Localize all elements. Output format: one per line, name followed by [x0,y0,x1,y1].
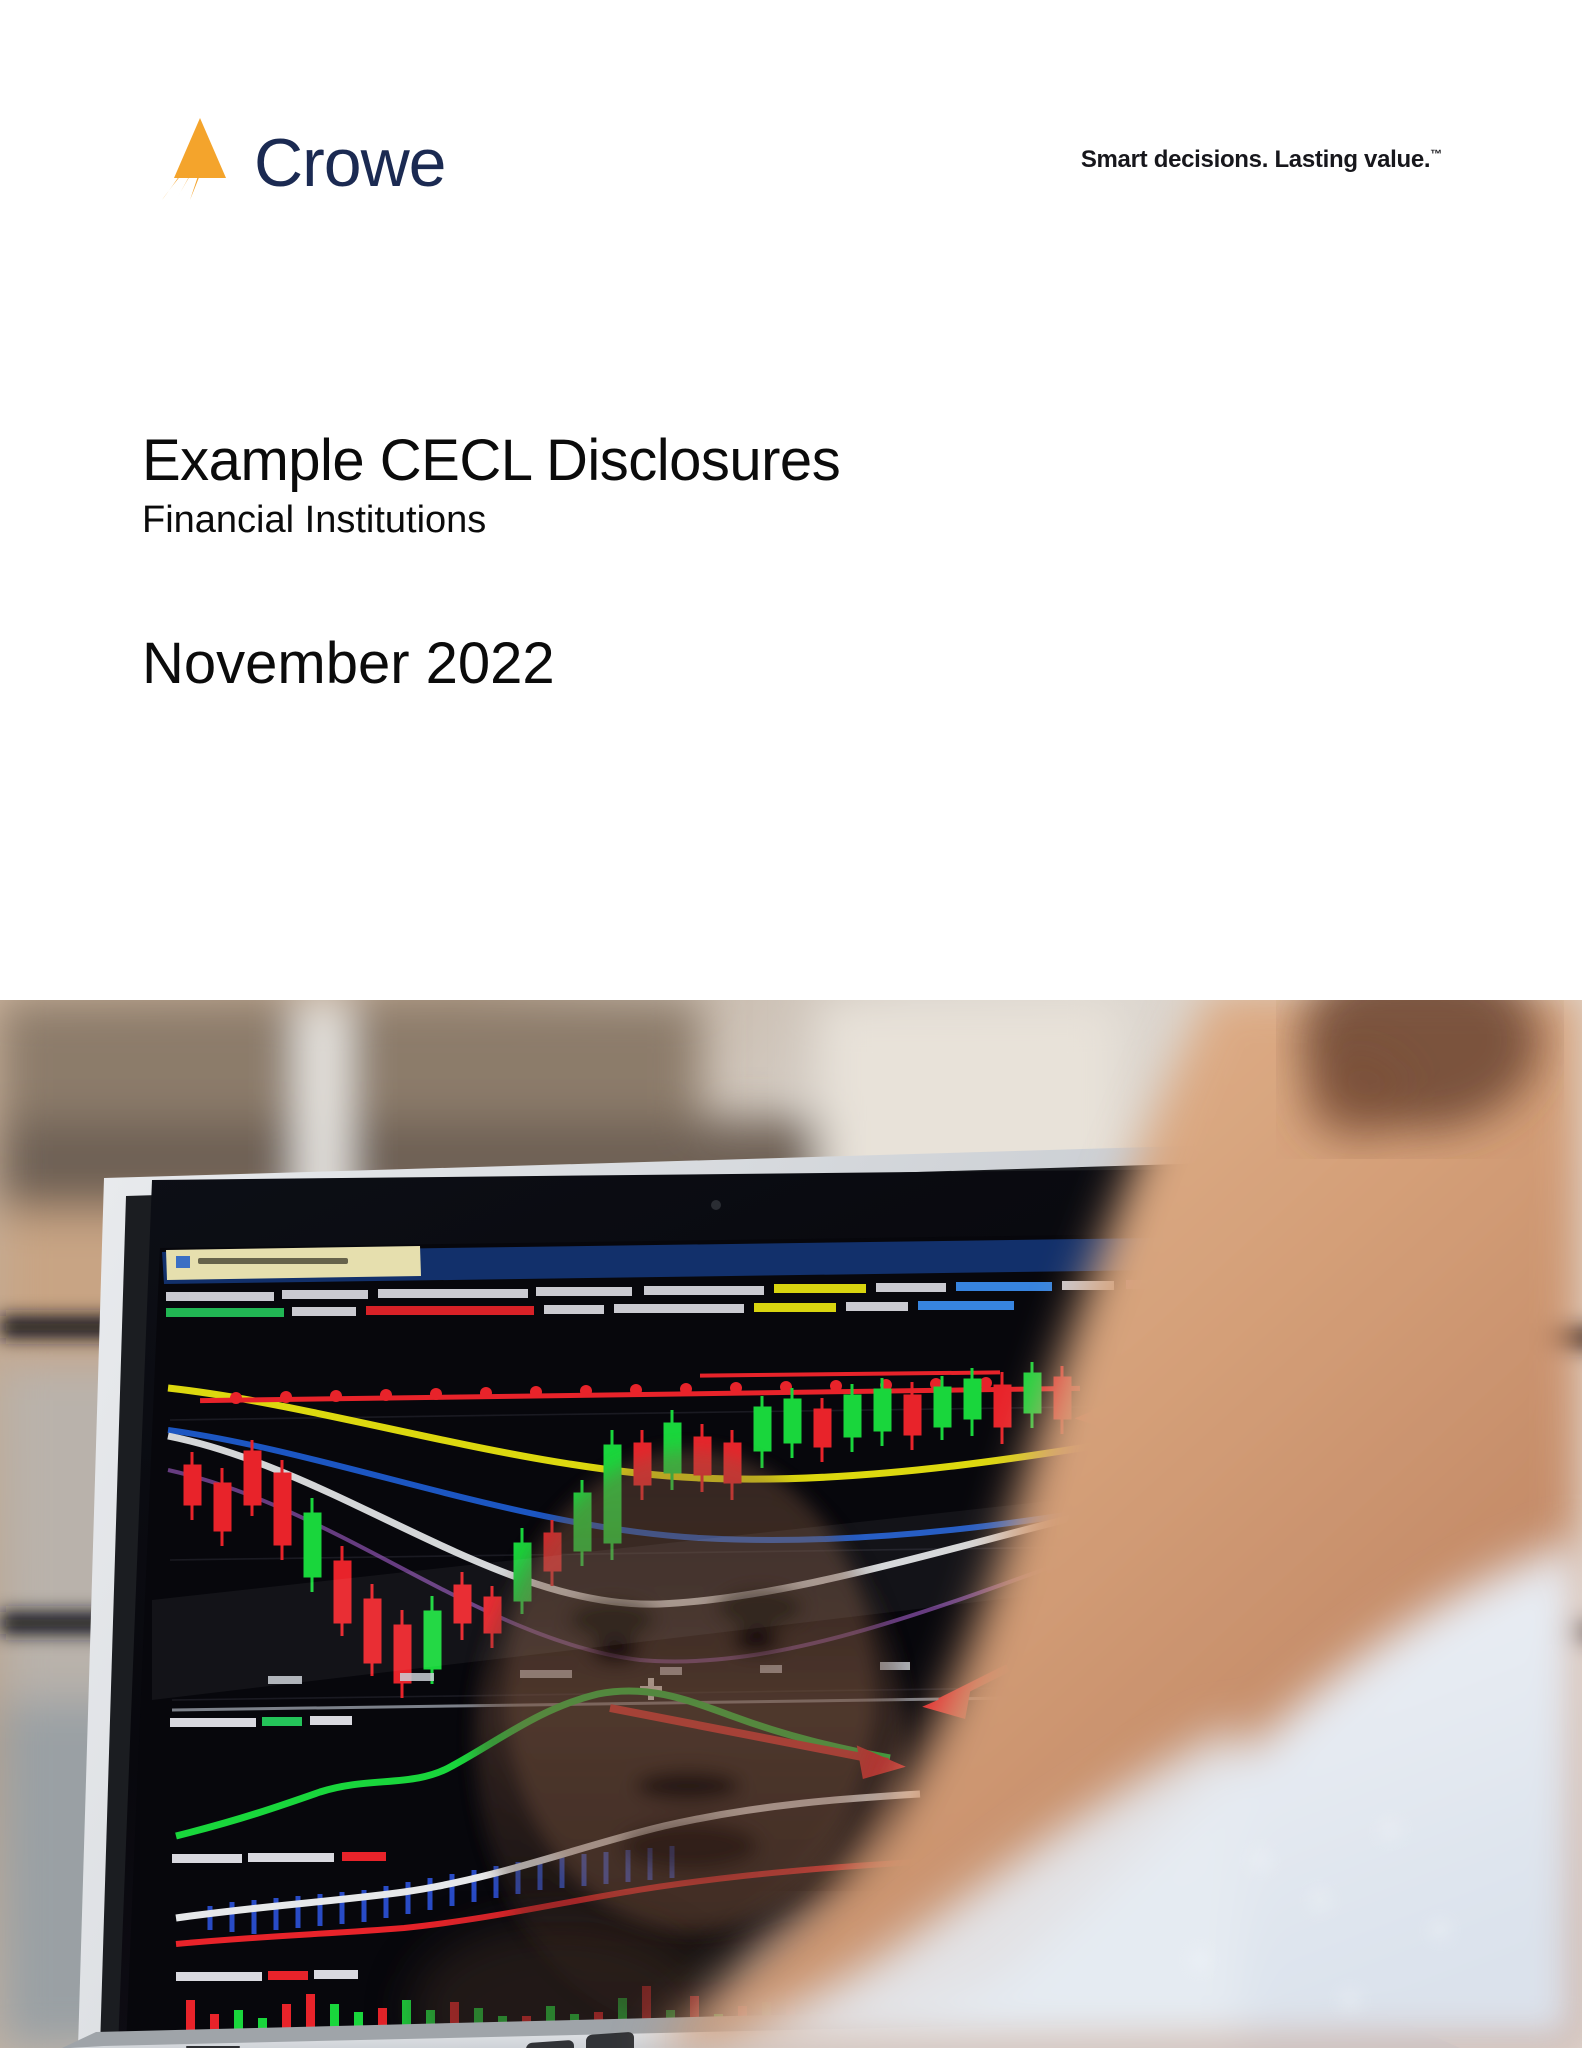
page-header: Crowe Smart decisions. Lasting value.™ [0,0,1582,260]
crowe-wordmark: Crowe [254,131,446,196]
crowe-arrow-logomark-icon [148,116,236,202]
cover-photograph [0,1000,1582,2048]
cover-title-block: Example CECL Disclosures Financial Insti… [142,430,1242,694]
document-title: Example CECL Disclosures [142,430,1242,491]
document-subtitle: Financial Institutions [142,497,1242,545]
crowe-logo: Crowe [148,116,446,202]
brand-tagline-text: Smart decisions. Lasting value. [1081,146,1430,173]
trademark-symbol: ™ [1430,147,1442,161]
document-date: November 2022 [142,633,1242,694]
brand-tagline: Smart decisions. Lasting value.™ [1081,146,1442,174]
laptop-stock-chart-illustration [0,1000,1582,2048]
